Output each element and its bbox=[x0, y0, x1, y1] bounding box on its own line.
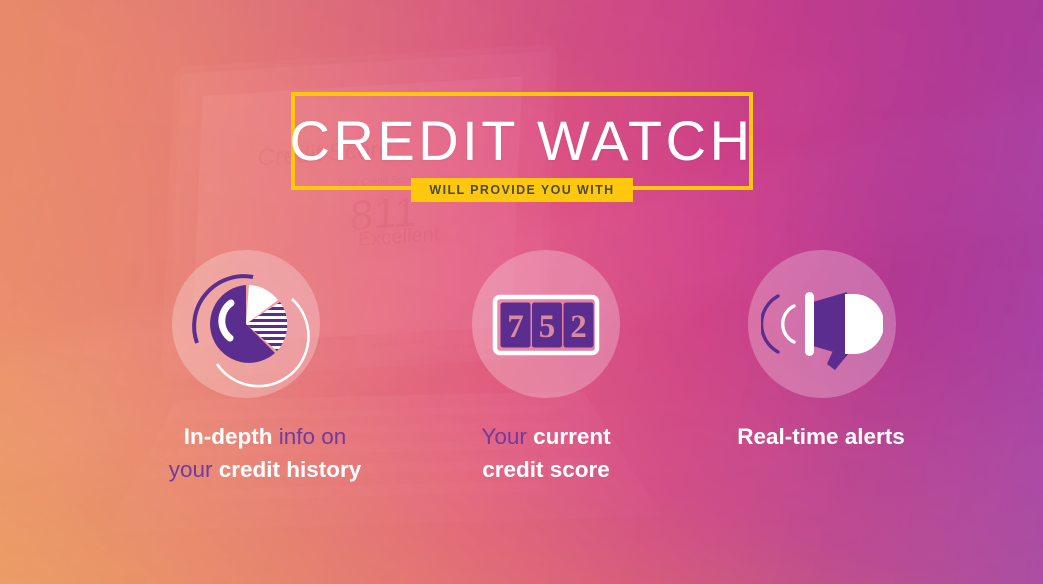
score-digits-icon: 7 5 2 bbox=[491, 284, 601, 364]
caption-line-1: In-depth info on bbox=[184, 424, 347, 449]
caption-line-2: credit score bbox=[482, 457, 610, 482]
caption-part-bold-2: credit history bbox=[219, 457, 362, 482]
feature-icon-circle bbox=[172, 250, 320, 398]
feature-real-time-alerts: Real-time alerts bbox=[675, 250, 975, 453]
feature-credit-score: 7 5 2 Your current credit score bbox=[405, 250, 685, 486]
score-digit-3: 2 bbox=[570, 309, 587, 345]
feature-caption: In-depth info on your credit history bbox=[100, 420, 430, 486]
caption-line-1: Your current bbox=[481, 424, 610, 449]
caption-part-accent-1: Your bbox=[481, 424, 533, 449]
subtitle-band: WILL PROVIDE YOU WITH bbox=[411, 178, 633, 202]
feature-icon-circle: 7 5 2 bbox=[472, 250, 620, 398]
caption-part-bold-1: Real-time alerts bbox=[737, 424, 905, 449]
caption-part-bold-1: In-depth bbox=[184, 424, 273, 449]
caption-part-accent-1: info on bbox=[272, 424, 346, 449]
feature-row: In-depth info on your credit history 7 5… bbox=[0, 250, 1043, 486]
caption-part-bold-1: current bbox=[533, 424, 611, 449]
feature-caption: Real-time alerts bbox=[671, 420, 971, 453]
feature-caption: Your current credit score bbox=[406, 420, 686, 486]
score-digit-2: 5 bbox=[539, 309, 556, 345]
feature-icon-circle bbox=[748, 250, 896, 398]
megaphone-icon bbox=[761, 274, 883, 374]
promo-banner: Credit Score Your Credit Score is 811 Ex… bbox=[0, 0, 1043, 584]
caption-line-1: Real-time alerts bbox=[737, 424, 905, 449]
page-title: CREDIT WATCH bbox=[0, 92, 1043, 190]
pie-chart-icon bbox=[181, 259, 311, 389]
score-digit-1: 7 bbox=[507, 309, 524, 345]
caption-part-accent-2: your bbox=[169, 457, 219, 482]
feature-credit-history: In-depth info on your credit history bbox=[72, 250, 420, 486]
caption-part-bold-2: credit score bbox=[482, 457, 610, 482]
subtitle-text: WILL PROVIDE YOU WITH bbox=[429, 183, 614, 197]
caption-line-2: your credit history bbox=[169, 457, 362, 482]
